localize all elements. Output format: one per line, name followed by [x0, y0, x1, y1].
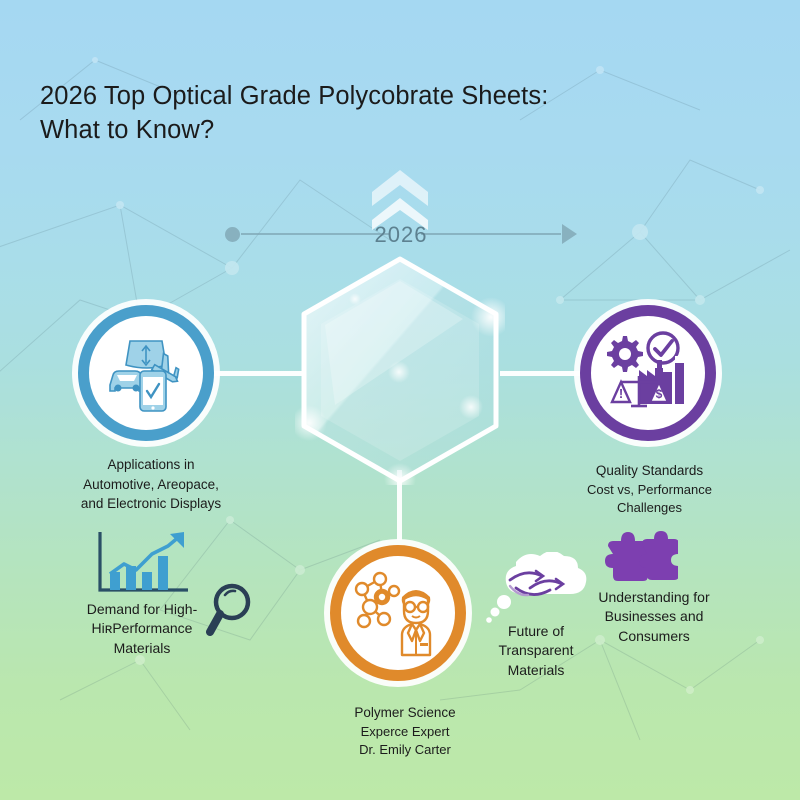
infographic-canvas: 2026 Top Optical Grade Polycobrate Sheet…: [0, 0, 800, 800]
chevron-up-icon: [368, 168, 432, 230]
page-title: 2026 Top Optical Grade Polycobrate Sheet…: [40, 80, 548, 147]
caption-applications-text: Applications in Automotive, Areopace, an…: [78, 455, 224, 514]
caption-polymer-title: Polymer Science: [310, 703, 500, 723]
timeline-2026: 2026: [225, 222, 577, 246]
caption-future: Future of Transparent Materials: [480, 622, 592, 680]
node-polymer-science[interactable]: [330, 545, 466, 681]
caption-quality-sub: Cost vs, Performance Challenges: [572, 481, 727, 517]
caption-understanding: Understanding for Businesses and Consume…: [580, 588, 728, 646]
thought-bubble-arrows-icon: [486, 552, 594, 624]
caption-polymer: Polymer Science Experce Expert Dr. Emily…: [310, 703, 500, 759]
growth-bar-chart-icon: [96, 530, 192, 598]
caption-demand: Demand for High- HiʀPerformance Material…: [72, 600, 212, 658]
node-applications[interactable]: [78, 305, 214, 441]
node-applications-ring: [78, 305, 214, 441]
caption-polymer-sub: Experce Expert Dr. Emily Carter: [310, 723, 500, 759]
caption-applications: Applications in Automotive, Areopace, an…: [78, 455, 224, 514]
timeline-year-label: 2026: [225, 222, 577, 248]
central-hexagon-glass: [295, 255, 505, 485]
puzzle-pieces-icon: [604, 528, 678, 586]
caption-quality-title: Quality Standards: [572, 461, 727, 481]
node-polymer-ring: [330, 545, 466, 681]
node-quality[interactable]: ! $: [580, 305, 716, 441]
magnifying-glass-icon: [206, 580, 260, 640]
node-quality-ring: [580, 305, 716, 441]
caption-quality: Quality Standards Cost vs, Performance C…: [572, 461, 727, 517]
